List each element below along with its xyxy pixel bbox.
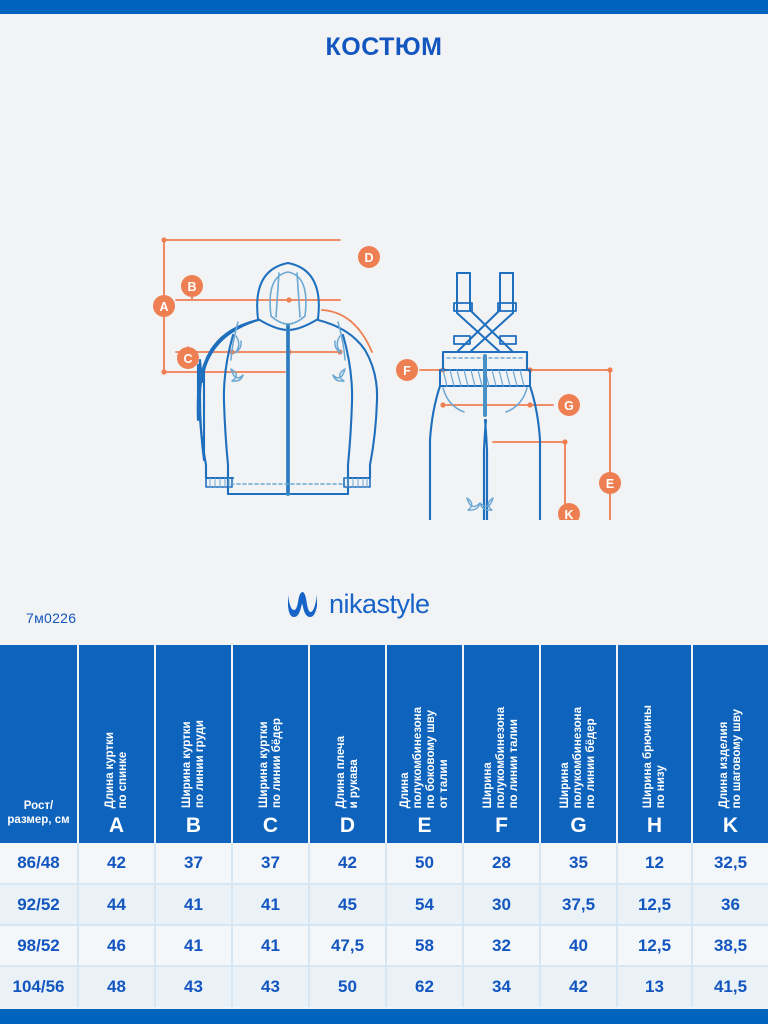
header-size: Рост/ размер, см [0, 645, 78, 843]
table-row: 86/48 42 37 37 42 50 28 35 12 32,5 [0, 843, 768, 884]
cell-H: 12,5 [617, 925, 692, 966]
header-letter-H: H [647, 815, 662, 837]
header-label-C: Ширина куртки по линии бёдер [258, 718, 284, 808]
header-col-E: Длина полукомбинезона по боковому шву от… [386, 645, 463, 843]
cell-K: 38,5 [692, 925, 768, 966]
cell-E: 58 [386, 925, 463, 966]
table-row: 104/56 48 43 43 50 62 34 42 13 41,5 [0, 966, 768, 1007]
cell-D: 50 [309, 966, 386, 1007]
cell-size: 104/56 [0, 966, 78, 1007]
cell-E: 62 [386, 966, 463, 1007]
cell-D: 42 [309, 843, 386, 884]
header-label-E: Длина полукомбинезона по боковому шву от… [399, 707, 451, 808]
cell-G: 40 [540, 925, 617, 966]
cell-F: 34 [463, 966, 540, 1007]
header-col-K: Длина изделия по шаговому шву K [692, 645, 768, 843]
cell-B: 37 [155, 843, 232, 884]
header-label-A: Длина куртки по спинке [104, 732, 130, 808]
svg-text:E: E [606, 477, 614, 491]
svg-text:F: F [403, 364, 411, 378]
cell-H: 12 [617, 843, 692, 884]
cell-E: 50 [386, 843, 463, 884]
cell-F: 28 [463, 843, 540, 884]
header-col-G: Ширина полукомбинезона по линии бёдер G [540, 645, 617, 843]
cell-H: 13 [617, 966, 692, 1007]
header-letter-B: B [186, 815, 201, 837]
top-accent-bar [0, 0, 768, 14]
page-title: КОСТЮМ [0, 33, 768, 62]
article-code: 7м0226 [26, 610, 76, 626]
cell-C: 37 [232, 843, 309, 884]
header-letter-A: A [109, 815, 124, 837]
pants-labels: F G E K H [393, 359, 621, 520]
cell-size: 98/52 [0, 925, 78, 966]
cell-C: 41 [232, 884, 309, 925]
header-label-B: Ширина куртки по линии груди [181, 720, 207, 808]
svg-text:C: C [183, 352, 192, 366]
header-letter-G: G [570, 815, 586, 837]
cell-K: 36 [692, 884, 768, 925]
header-letter-E: E [417, 815, 431, 837]
cell-C: 43 [232, 966, 309, 1007]
cell-A: 42 [78, 843, 155, 884]
size-table: Рост/ размер, см Длина куртки по спинке … [0, 645, 768, 1007]
svg-text:A: A [159, 300, 168, 314]
header-col-D: Длина плеча и рукава D [309, 645, 386, 843]
svg-text:B: B [187, 280, 196, 294]
table-row: 92/52 44 41 41 45 54 30 37,5 12,5 36 [0, 884, 768, 925]
header-col-C: Ширина куртки по линии бёдер C [232, 645, 309, 843]
cell-F: 32 [463, 925, 540, 966]
header-label-K: Длина изделия по шаговому шву [718, 709, 744, 808]
header-letter-D: D [340, 815, 355, 837]
cell-B: 41 [155, 925, 232, 966]
cell-B: 43 [155, 966, 232, 1007]
header-col-B: Ширина куртки по линии груди B [155, 645, 232, 843]
header-letter-F: F [495, 815, 508, 837]
cell-size: 92/52 [0, 884, 78, 925]
cell-B: 41 [155, 884, 232, 925]
cell-K: 32,5 [692, 843, 768, 884]
table-row: 98/52 46 41 41 47,5 58 32 40 12,5 38,5 [0, 925, 768, 966]
size-chart-page: КОСТЮМ [0, 0, 768, 1024]
cell-G: 37,5 [540, 884, 617, 925]
cell-K: 41,5 [692, 966, 768, 1007]
measurement-diagram: A B C D [0, 120, 768, 520]
cell-F: 30 [463, 884, 540, 925]
header-label-H: Ширина брючины по низу [642, 705, 668, 808]
header-label-G: Ширина полукомбинезона по линии бёдер [559, 707, 598, 808]
header-label-D: Длина плеча и рукава [335, 736, 361, 808]
header-col-H: Ширина брючины по низу H [617, 645, 692, 843]
cell-D: 47,5 [309, 925, 386, 966]
bottom-accent-bar [0, 1009, 768, 1024]
header-size-label: Рост/ размер, см [7, 800, 69, 837]
cell-D: 45 [309, 884, 386, 925]
header-col-A: Длина куртки по спинке A [78, 645, 155, 843]
svg-text:K: K [564, 508, 573, 520]
size-table-container: Рост/ размер, см Длина куртки по спинке … [0, 645, 768, 1007]
brand-logo: nikastyle [286, 589, 430, 620]
brand-name: nikastyle [329, 589, 430, 620]
nikastyle-wave-icon [286, 592, 320, 618]
svg-text:G: G [564, 399, 574, 413]
cell-A: 48 [78, 966, 155, 1007]
cell-A: 44 [78, 884, 155, 925]
cell-H: 12,5 [617, 884, 692, 925]
header-label-F: Ширина полукомбинезона по линии талии [482, 707, 521, 808]
cell-size: 86/48 [0, 843, 78, 884]
cell-E: 54 [386, 884, 463, 925]
header-letter-K: K [723, 815, 738, 837]
header-letter-C: C [263, 815, 278, 837]
table-header-row: Рост/ размер, см Длина куртки по спинке … [0, 645, 768, 843]
cell-G: 42 [540, 966, 617, 1007]
cell-G: 35 [540, 843, 617, 884]
cell-A: 46 [78, 925, 155, 966]
svg-text:D: D [364, 251, 373, 265]
cell-C: 41 [232, 925, 309, 966]
pants-illustration [420, 273, 613, 520]
header-col-F: Ширина полукомбинезона по линии талии F [463, 645, 540, 843]
